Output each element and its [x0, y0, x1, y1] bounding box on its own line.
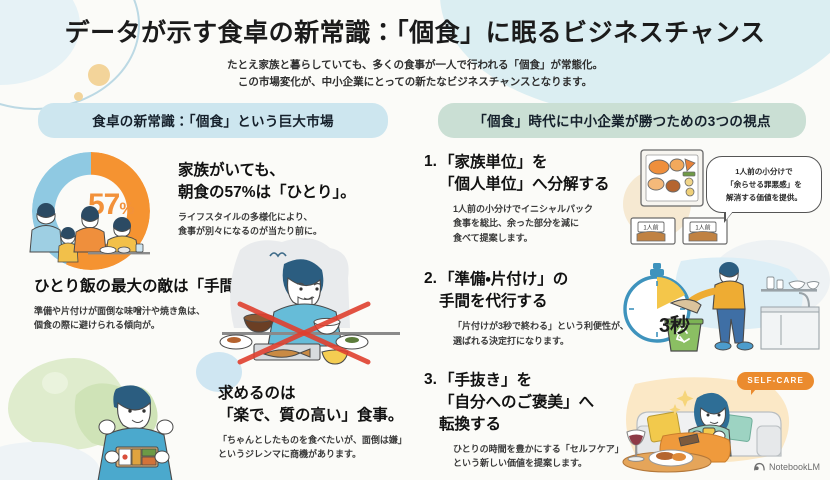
right-item-3-headline: 「手抜き」を 「自分へのご褒美」へ 転換する: [439, 370, 635, 436]
headline-line-1: 求めるのは: [218, 383, 407, 405]
left-block-3-headline: 求めるのは 「楽で、質の高い」食事。: [218, 383, 407, 427]
pack-label-a: 1人前: [643, 224, 658, 232]
notebooklm-logo-icon: [753, 461, 765, 473]
left-block-quality: 求めるのは 「楽で、質の高い」食事。 「ちゃんとしたものを食べたいが、面倒は嫌」…: [16, 377, 410, 480]
right-item-1-headline: 「家族単位」を 「個人単位」へ分解する: [439, 152, 635, 196]
value-proposition-bubble: 1人前の小分けで 「余らせる罪悪感」を 解消する価値を提供。: [706, 156, 822, 213]
sad-man-meal-illustration: [218, 234, 404, 370]
right-item-3-number: 3.: [424, 370, 437, 471]
right-item-3-text: 「手抜き」を 「自分へのご褒美」へ 転換する ひとりの時間を豊かにする「セルフケ…: [439, 370, 635, 471]
right-panel-heading: 「個食」時代に中小企業が勝つための3つの視点: [438, 103, 806, 138]
page-subtitle: たとえ家族と暮らしていても、多くの食事が一人で行われる「個食」が常態化。 この市…: [0, 57, 830, 91]
caption-line-2: 選ばれる決定打になります。: [453, 334, 635, 348]
headline-line-1: 「手抜き」を: [439, 370, 635, 392]
caption-line-1: ひとりの時間を豊かにする「セルフケア」: [453, 442, 635, 456]
page-title: データが示す食卓の新常識：「個食」に眠るビジネスチャンス: [0, 18, 830, 48]
caption-line-1: 「ちゃんとしたものを食べたいが、面倒は嫌」: [218, 433, 407, 447]
left-block-effort: ひとり飯の最大の敵は「手間」。 準備や片付けが面倒な味噌汁や焼き魚は、 個食の際…: [16, 276, 410, 333]
right-item-2-illustration-area: 3秒: [635, 269, 820, 348]
pack-label-b: 1人前: [695, 224, 710, 232]
headline-line-2: 「楽で、質の高い」食事。: [218, 405, 407, 427]
caption-line-2: という新しい価値を提案します。: [453, 456, 635, 470]
right-item-1-number: 1.: [424, 152, 437, 245]
self-care-badge: SELF-CARE: [737, 372, 814, 390]
headline-line-2: 「自分へのご褒美」へ: [439, 392, 635, 414]
footer-brand: NotebookLM: [753, 461, 820, 473]
right-item-1-illustration-area: 1人前 1人前 1人前の小分けで 「余らせる罪悪感」を 解消する価値を提供。: [635, 152, 820, 245]
right-item-3-illustration-area: SELF-CARE: [635, 370, 820, 471]
left-column: 食卓の新常識：「個食」という巨大市場 57%: [0, 103, 418, 480]
bubble-line-2: 「余らせる罪悪感」を: [714, 178, 814, 191]
subtitle-line-1: たとえ家族と暮らしていても、多くの食事が一人で行われる「個食」が常態化。: [0, 57, 830, 74]
bubble-line-1: 1人前の小分けで: [714, 165, 814, 178]
right-item-1-text: 「家族単位」を 「個人単位」へ分解する 1人前の小分けでイニシャルパック 食事を…: [439, 152, 635, 245]
right-item-2-caption: 「片付けが3秒で終わる」という利便性が、 選ばれる決定打になります。: [439, 319, 635, 348]
footer-brand-label: NotebookLM: [769, 462, 820, 472]
caption-line-1: 「片付けが3秒で終わる」という利便性が、: [453, 319, 635, 333]
timer-label: 3秒: [659, 309, 690, 338]
donut-chart: 57%: [24, 150, 176, 270]
right-item-3-caption: ひとりの時間を豊かにする「セルフケア」 という新しい価値を提案します。: [439, 442, 635, 471]
right-item-1: 1. 「家族単位」を 「個人単位」へ分解する 1人前の小分けでイニシャルパック …: [424, 152, 820, 245]
left-block-1-text: 家族がいても、 朝食の57%は「ひとり」。 ライフスタイルの多様化により、 食事…: [178, 150, 356, 239]
decorative-dot-amber-small: [74, 92, 83, 101]
caption-line-2: 食事を総比、余った部分を減に: [453, 216, 635, 230]
bubble-line-3: 解消する価値を提供。: [714, 191, 814, 204]
man-holding-bento-illustration: [60, 377, 210, 480]
right-item-2-headline: 「準備・片付け」の 手間を代行する: [439, 269, 635, 313]
caption-line-2: というジレンマに商機があります。: [218, 447, 407, 461]
caption-line-1: ライフスタイルの多様化により、: [178, 210, 356, 224]
headline-line-1: 家族がいても、: [178, 160, 356, 182]
infographic-page: データが示す食卓の新常識：「個食」に眠るビジネスチャンス たとえ家族と暮らしてい…: [0, 0, 830, 480]
subtitle-line-2: この市場変化が、中小企業にとっての新たなビジネスチャンスとなります。: [0, 74, 830, 91]
kitchen-cleanup-illustration: [621, 253, 821, 357]
headline-line-1: 「準備・片付け」の: [439, 269, 635, 291]
right-item-1-caption: 1人前の小分けでイニシャルパック 食事を総比、余った部分を減に 食べて提案します…: [439, 202, 635, 245]
caption-line-3: 食べて提案します。: [453, 231, 635, 245]
headline-line-3: 転換する: [439, 414, 635, 436]
headline-line-1: 「家族単位」を: [439, 152, 635, 174]
left-block-3-caption: 「ちゃんとしたものを食べたいが、面倒は嫌」 というジレンマに商機があります。: [218, 433, 407, 462]
headline-line-2: 「個人単位」へ分解する: [439, 174, 635, 196]
left-block-3-text: 求めるのは 「楽で、質の高い」食事。 「ちゃんとしたものを食べたいが、面倒は嫌」…: [218, 377, 407, 462]
right-item-2-text: 「準備・片付け」の 手間を代行する 「片付けが3秒で終わる」という利便性が、 選…: [439, 269, 635, 348]
headline-line-2: 朝食の57%は「ひとり」。: [178, 182, 356, 204]
content-columns: 食卓の新常識：「個食」という巨大市場 57%: [0, 103, 830, 480]
headline-line-2: 手間を代行する: [439, 291, 635, 313]
caption-line-1: 1人前の小分けでイニシャルパック: [453, 202, 635, 216]
header: データが示す食卓の新常識：「個食」に眠るビジネスチャンス たとえ家族と暮らしてい…: [0, 0, 830, 91]
right-item-2-number: 2.: [424, 269, 437, 348]
right-column: 「個食」時代に中小企業が勝つための3つの視点 1. 「家族単位」を 「個人単位」…: [418, 103, 830, 480]
right-item-2: 2. 「準備・片付け」の 手間を代行する 「片付けが3秒で終わる」という利便性が…: [424, 269, 820, 348]
left-panel-heading: 食卓の新常識：「個食」という巨大市場: [38, 103, 388, 138]
right-item-3: 3. 「手抜き」を 「自分へのご褒美」へ 転換する ひとりの時間を豊かにする「セ…: [424, 370, 820, 471]
left-block-1-headline: 家族がいても、 朝食の57%は「ひとり」。: [178, 160, 356, 204]
family-eating-illustration: [26, 190, 150, 262]
